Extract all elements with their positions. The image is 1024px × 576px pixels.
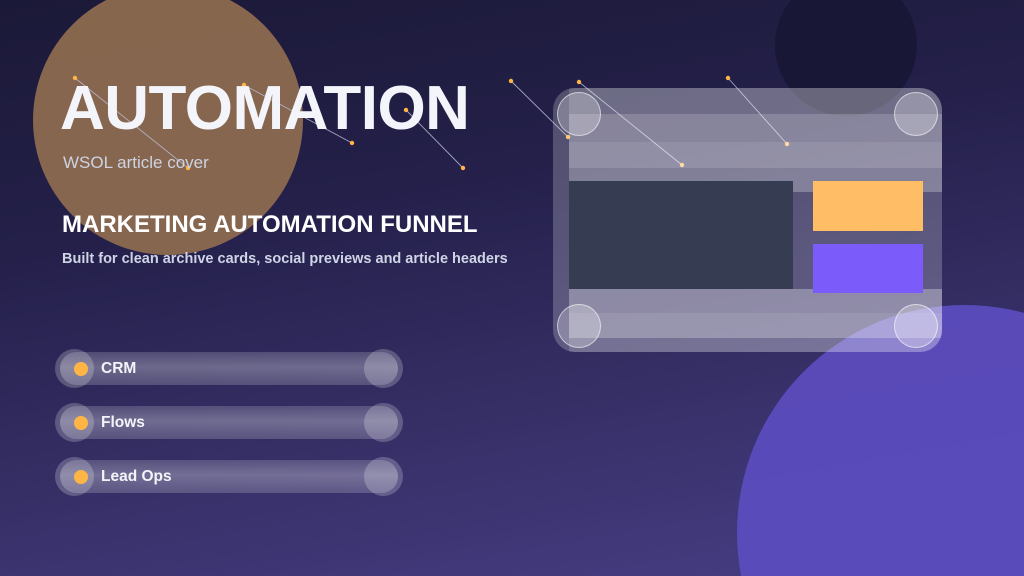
pill-item-flows[interactable]: Flows (60, 406, 398, 439)
card-band (569, 313, 942, 338)
hero-text-block: AUTOMATION WSOL article cover MARKETING … (60, 78, 580, 270)
corner-bottom-left-icon (557, 304, 601, 348)
card-band (569, 114, 942, 142)
card-accent-panel (813, 181, 923, 231)
pill-cap-right-icon (364, 349, 403, 388)
feature-pill-list: CRM Flows Lead Ops (60, 352, 398, 514)
subtitle-text: Built for clean archive cards, social pr… (62, 250, 580, 270)
pill-label: CRM (101, 360, 136, 378)
eyebrow-label: WSOL article cover (63, 153, 580, 173)
card-media-panel (569, 181, 793, 289)
card-band (569, 338, 942, 352)
orange-dot-icon (74, 362, 88, 376)
orange-dot-icon (74, 470, 88, 484)
headline-text: MARKETING AUTOMATION FUNNEL (62, 209, 482, 240)
pill-item-crm[interactable]: CRM (60, 352, 398, 385)
corner-top-right-icon (894, 92, 938, 136)
cover-canvas: AUTOMATION WSOL article cover MARKETING … (0, 0, 1024, 576)
card-band (569, 88, 942, 114)
pill-cap-right-icon (364, 457, 403, 496)
orange-dot-icon (74, 416, 88, 430)
card-band (569, 142, 942, 168)
pill-item-lead-ops[interactable]: Lead Ops (60, 460, 398, 493)
pill-label: Flows (101, 414, 145, 432)
pill-label: Lead Ops (101, 468, 172, 486)
corner-bottom-right-icon (894, 304, 938, 348)
corner-top-left-icon (557, 92, 601, 136)
page-title: AUTOMATION (60, 78, 580, 140)
pill-cap-right-icon (364, 403, 403, 442)
connector-dot-icon (726, 76, 730, 80)
card-action-panel (813, 244, 923, 293)
